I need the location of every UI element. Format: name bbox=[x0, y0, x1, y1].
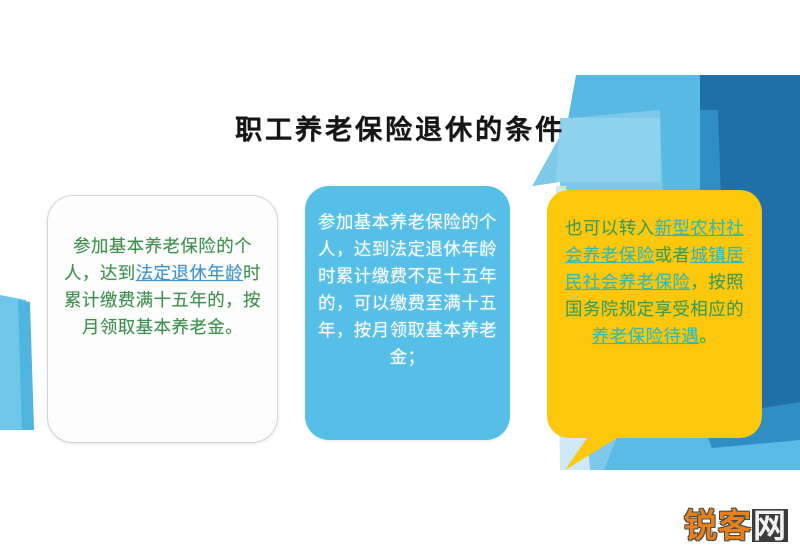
card1-seg-4: 累计缴费满十五 bbox=[64, 291, 189, 311]
card1-seg-0: 参加基本养老保 bbox=[73, 237, 198, 257]
watermark-boxed-char: 网 bbox=[752, 509, 788, 542]
condition-card-1: 参加基本养老保险的个人，达到法定退休年龄时累计缴费满十五年的，按月领取基本养老金… bbox=[47, 195, 278, 443]
condition-card-2: 参加基本养老保险的个人，达到法定退休年龄时累计缴费不足十五年的，可以缴费至满十五… bbox=[305, 186, 510, 440]
card1-seg-3: 时 bbox=[243, 264, 261, 284]
watermark-text: 锐客 bbox=[684, 509, 752, 542]
card3-link-pension-benefits[interactable]: 养老保险待遇 bbox=[592, 327, 699, 347]
card1-link-legal-retirement-age[interactable]: 法定退休年龄 bbox=[136, 264, 243, 284]
site-watermark: 锐客网 bbox=[684, 509, 788, 542]
slide-canvas: 职工养老保险退休的条件 参加基本养老保险的个人，达到法定退休年龄时累计缴费满十五… bbox=[0, 0, 800, 550]
card3-seg-2: 或者 bbox=[654, 246, 690, 266]
condition-card-3-text: 也可以转入新型农村社会养老保险或者城镇居民社会养老保险，按照国务院规定享受相应的… bbox=[559, 216, 750, 351]
card3-seg-0: 也可以转入 bbox=[565, 219, 655, 239]
page-title: 职工养老保险退休的条件 bbox=[0, 108, 800, 147]
condition-card-2-text: 参加基本养老保险的个人，达到法定退休年龄时累计缴费不足十五年的，可以缴费至满十五… bbox=[315, 210, 500, 372]
condition-card-1-text: 参加基本养老保险的个人，达到法定退休年龄时累计缴费满十五年的，按月领取基本养老金… bbox=[62, 234, 263, 342]
card3-seg-6: 。 bbox=[699, 327, 717, 347]
card1-seg-6: 基本养老金。 bbox=[136, 318, 243, 338]
condition-card-3: 也可以转入新型农村社会养老保险或者城镇居民社会养老保险，按照国务院规定享受相应的… bbox=[547, 190, 762, 438]
